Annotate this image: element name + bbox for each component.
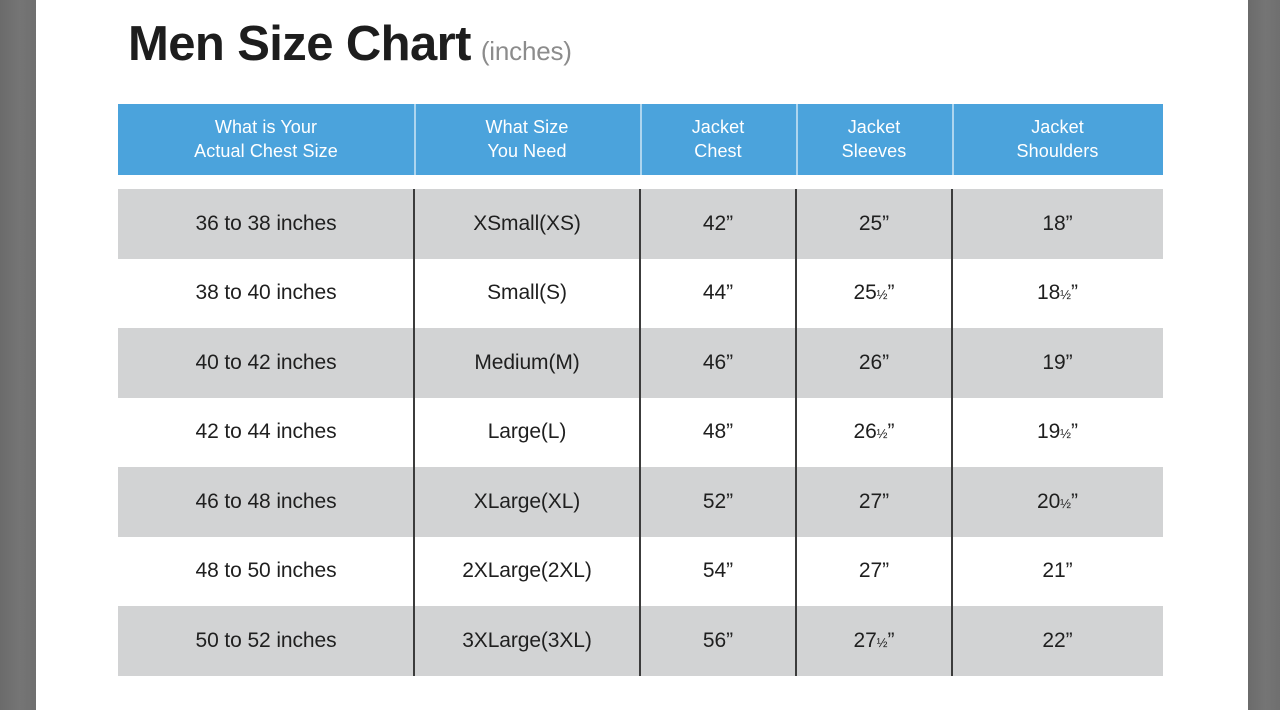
table-cell: 42 to 44 inches	[118, 398, 414, 468]
table-cell: 2XLarge(2XL)	[414, 537, 640, 607]
table-cell: 26½”	[796, 398, 952, 468]
table-cell: 42”	[640, 189, 796, 259]
column-header-line2: Shoulders	[1017, 140, 1099, 164]
table-cell: 19”	[952, 328, 1163, 398]
column-header-line1: Jacket	[848, 116, 901, 140]
column-header-jacket-sleeves: Jacket Sleeves	[796, 104, 952, 175]
size-chart-page: Men Size Chart (inches) What is Your Act…	[36, 0, 1248, 710]
table-cell: 46”	[640, 328, 796, 398]
table-row: 46 to 48 inchesXLarge(XL)52”27”20½”	[118, 467, 1163, 537]
page-title: Men Size Chart (inches)	[128, 16, 572, 72]
column-header-line2: Chest	[694, 140, 742, 164]
table-cell: 18”	[952, 189, 1163, 259]
table-cell: 48”	[640, 398, 796, 468]
table-cell: 54”	[640, 537, 796, 607]
table-cell: Small(S)	[414, 259, 640, 329]
column-header-size-you-need: What Size You Need	[414, 104, 640, 175]
table-cell: Medium(M)	[414, 328, 640, 398]
table-cell: Large(L)	[414, 398, 640, 468]
column-header-line1: Jacket	[692, 116, 745, 140]
table-cell: 25½”	[796, 259, 952, 329]
column-header-line2: You Need	[487, 140, 566, 164]
table-cell: 44”	[640, 259, 796, 329]
table-cell: 19½”	[952, 398, 1163, 468]
table-header-row: What is Your Actual Chest Size What Size…	[118, 104, 1163, 175]
table-cell: 26”	[796, 328, 952, 398]
page-title-unit: (inches)	[481, 36, 572, 67]
right-edge-band	[1248, 0, 1280, 710]
table-cell: 18½”	[952, 259, 1163, 329]
column-header-line1: What is Your	[215, 116, 317, 140]
table-cell: 25”	[796, 189, 952, 259]
column-header-line2: Actual Chest Size	[194, 140, 338, 164]
table-cell: 27”	[796, 467, 952, 537]
table-cell: 21”	[952, 537, 1163, 607]
table-cell: 56”	[640, 606, 796, 676]
table-row: 40 to 42 inchesMedium(M)46”26”19”	[118, 328, 1163, 398]
column-header-actual-chest-size: What is Your Actual Chest Size	[118, 104, 414, 175]
column-header-line1: What Size	[486, 116, 569, 140]
table-cell: 27½”	[796, 606, 952, 676]
table-row: 48 to 50 inches2XLarge(2XL)54”27”21”	[118, 537, 1163, 607]
column-header-jacket-chest: Jacket Chest	[640, 104, 796, 175]
table-row: 36 to 38 inchesXSmall(XS)42”25”18”	[118, 189, 1163, 259]
page-title-main: Men Size Chart	[128, 16, 471, 72]
size-chart-table: What is Your Actual Chest Size What Size…	[118, 104, 1163, 676]
table-cell: 27”	[796, 537, 952, 607]
table-cell: 3XLarge(3XL)	[414, 606, 640, 676]
table-cell: 46 to 48 inches	[118, 467, 414, 537]
column-header-jacket-shoulders: Jacket Shoulders	[952, 104, 1163, 175]
table-cell: XLarge(XL)	[414, 467, 640, 537]
table-cell: 36 to 38 inches	[118, 189, 414, 259]
table-row: 50 to 52 inches3XLarge(3XL)56”27½”22”	[118, 606, 1163, 676]
table-cell: XSmall(XS)	[414, 189, 640, 259]
column-header-line1: Jacket	[1031, 116, 1084, 140]
table-cell: 38 to 40 inches	[118, 259, 414, 329]
table-cell: 22”	[952, 606, 1163, 676]
table-cell: 20½”	[952, 467, 1163, 537]
table-row: 38 to 40 inchesSmall(S)44”25½”18½”	[118, 259, 1163, 329]
table-cell: 50 to 52 inches	[118, 606, 414, 676]
table-cell: 48 to 50 inches	[118, 537, 414, 607]
table-row: 42 to 44 inchesLarge(L)48”26½”19½”	[118, 398, 1163, 468]
left-edge-band	[0, 0, 36, 710]
column-header-line2: Sleeves	[842, 140, 907, 164]
table-cell: 52”	[640, 467, 796, 537]
table-cell: 40 to 42 inches	[118, 328, 414, 398]
table-body: 36 to 38 inchesXSmall(XS)42”25”18”38 to …	[118, 189, 1163, 676]
